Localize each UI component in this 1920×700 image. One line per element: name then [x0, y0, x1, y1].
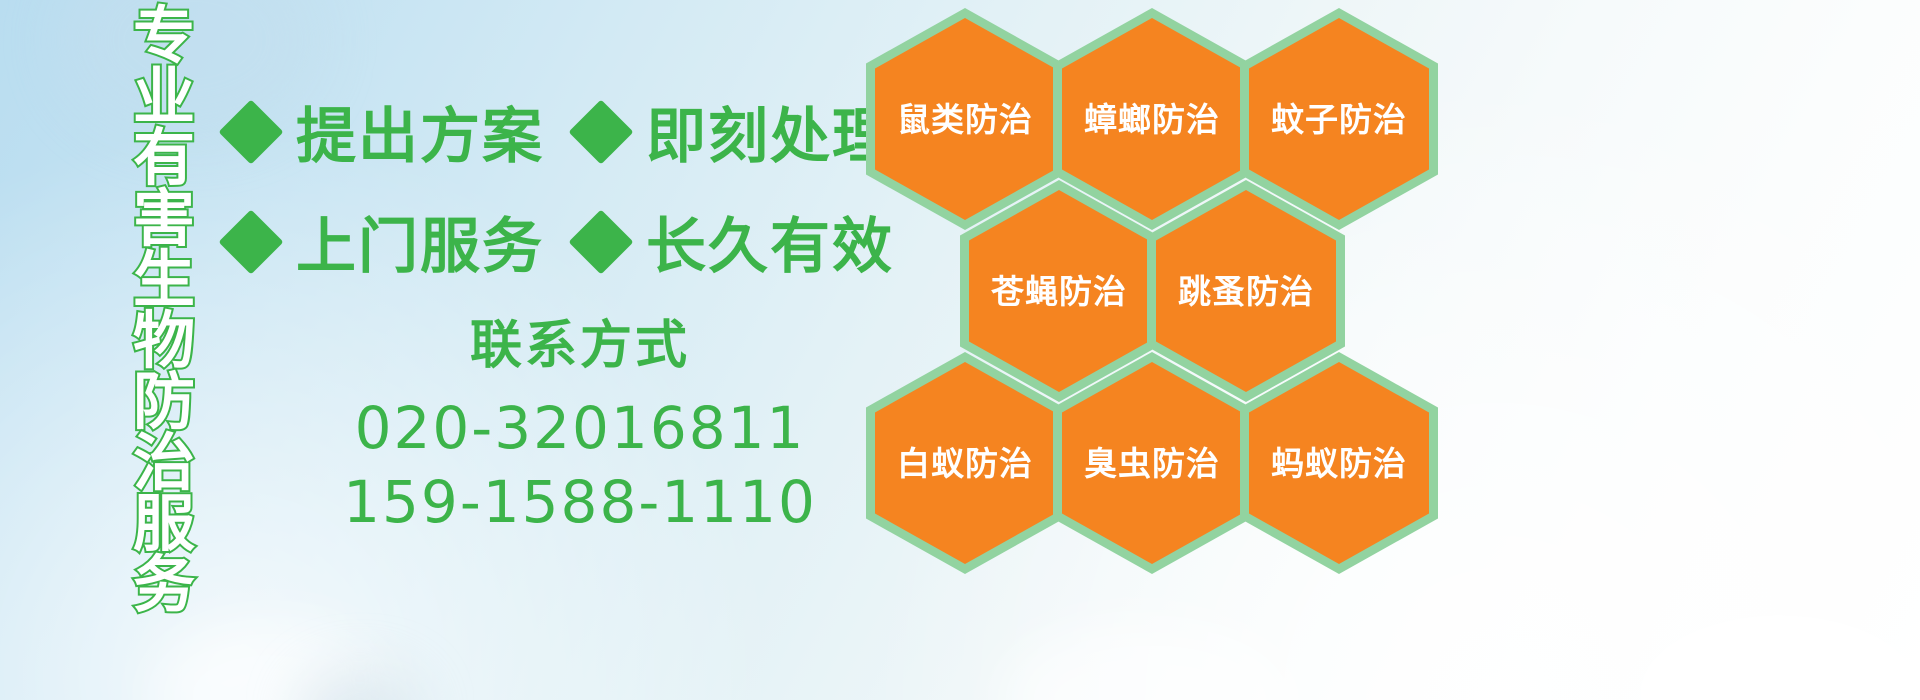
service-hex-ant[interactable]: 蚂蚁防治	[1240, 352, 1438, 574]
feature-label: 长久有效	[646, 198, 894, 285]
service-label: 鼠类防治	[897, 103, 1033, 136]
service-label: 白蚁防治	[897, 447, 1033, 480]
vertical-headline-char: 物	[133, 311, 195, 372]
vertical-headline-char: 生	[133, 250, 195, 311]
background-bokeh-blob	[1000, 620, 1300, 700]
vertical-headline-char: 害	[133, 189, 195, 250]
background-bokeh-blob	[1620, 600, 1920, 700]
vertical-headline-char: 专	[133, 6, 195, 67]
feature-label: 即刻处理	[646, 88, 894, 175]
feature-item: 即刻处理	[578, 88, 894, 175]
phone-number-landline[interactable]: 020-32016811	[300, 391, 860, 465]
vertical-headline-char: 治	[133, 433, 195, 494]
service-label: 臭虫防治	[1084, 447, 1220, 480]
diamond-bullet-icon	[218, 99, 283, 164]
vertical-headline-char: 服	[133, 494, 195, 555]
service-label: 蚊子防治	[1271, 103, 1407, 136]
feature-label: 提出方案	[296, 88, 544, 175]
background-bokeh-blob	[300, 670, 420, 700]
diamond-bullet-icon	[568, 99, 633, 164]
background-bokeh-blob	[150, 620, 390, 700]
contact-title: 联系方式	[300, 318, 860, 375]
vertical-headline: 专 业 有 害 生 物 防 治 服 务	[118, 6, 210, 616]
diamond-bullet-icon	[568, 209, 633, 274]
feature-row-2: 上门服务 长久有效	[228, 198, 894, 285]
service-label: 蚂蚁防治	[1271, 447, 1407, 480]
vertical-headline-char: 有	[133, 128, 195, 189]
contact-block: 联系方式 020-32016811 159-1588-1110	[300, 318, 860, 540]
feature-label: 上门服务	[296, 198, 544, 285]
service-label: 蟑螂防治	[1084, 103, 1220, 136]
service-hex-bedbug[interactable]: 臭虫防治	[1053, 352, 1251, 574]
vertical-headline-char: 务	[133, 555, 195, 616]
service-hex-termite[interactable]: 白蚁防治	[866, 352, 1064, 574]
diamond-bullet-icon	[218, 209, 283, 274]
pest-control-banner: 专 业 有 害 生 物 防 治 服 务 提出方案 即刻处理 上门服务 长久有效	[0, 0, 1920, 700]
feature-item: 长久有效	[578, 198, 894, 285]
phone-number-mobile[interactable]: 159-1588-1110	[300, 465, 860, 539]
feature-item: 提出方案	[228, 88, 578, 175]
vertical-headline-char: 业	[133, 67, 195, 128]
service-label: 跳蚤防治	[1178, 275, 1314, 308]
feature-item: 上门服务	[228, 198, 578, 285]
service-label: 苍蝇防治	[991, 275, 1127, 308]
feature-row-1: 提出方案 即刻处理	[228, 88, 894, 175]
vertical-headline-char: 防	[133, 372, 195, 433]
